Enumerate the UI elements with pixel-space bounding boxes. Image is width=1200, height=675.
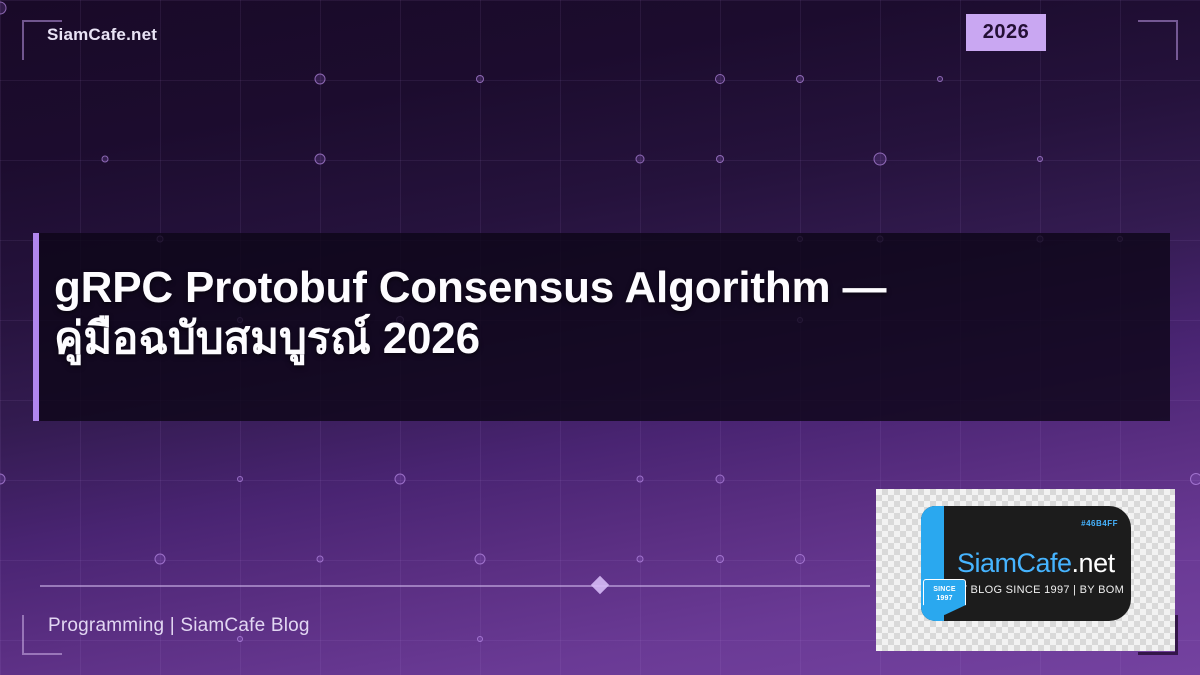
logo-tagline: IT BLOG SINCE 1997 | BY BOM — [957, 584, 1124, 596]
decorative-dot — [796, 75, 804, 83]
decorative-dot — [937, 76, 943, 82]
title-line-1: gRPC Protobuf Consensus — [54, 263, 614, 312]
logo-wordmark-primary: SiamCafe — [957, 548, 1072, 578]
decorative-dot — [475, 554, 486, 565]
decorative-dot — [155, 554, 166, 565]
year-badge-label: 2026 — [983, 21, 1030, 44]
decorative-dot — [0, 2, 7, 15]
decorative-dot — [317, 556, 324, 563]
decorative-dot — [102, 156, 109, 163]
logo-inner-card: #46B4FF SiamCafe.net IT BLOG SINCE 1997 … — [921, 506, 1131, 621]
page-title: gRPC Protobuf Consensus Algorithm — คู่ม… — [54, 262, 1164, 364]
logo-wordmark-suffix: .net — [1072, 548, 1115, 578]
since-ribbon-line-1: SINCE — [933, 585, 955, 594]
decorative-dot — [1037, 156, 1043, 162]
decorative-dot — [395, 474, 406, 485]
brand-name: SiamCafe.net — [47, 25, 157, 45]
decorative-dot — [315, 74, 326, 85]
decorative-dot — [477, 636, 483, 642]
decorative-dot — [795, 554, 805, 564]
corner-bracket-top-right-icon — [1138, 20, 1178, 60]
decorative-dot — [637, 556, 644, 563]
footer-divider — [40, 585, 870, 587]
poster-canvas: SiamCafe.net 2026 gRPC Protobuf Consensu… — [0, 0, 1200, 675]
footer-category-label: Programming | SiamCafe Blog — [48, 615, 310, 637]
decorative-dot — [637, 476, 644, 483]
logo-wordmark: SiamCafe.net — [957, 548, 1115, 579]
title-line-3: คู่มือฉบับสมบูรณ์ 2026 — [54, 313, 1164, 364]
title-accent-bar — [33, 233, 39, 421]
since-ribbon-line-2: 1997 — [936, 594, 952, 603]
decorative-dot — [237, 476, 243, 482]
decorative-dot — [0, 474, 6, 485]
title-line-2: Algorithm — — [624, 263, 886, 312]
decorative-dot — [716, 155, 724, 163]
decorative-dot — [716, 475, 725, 484]
decorative-dot — [716, 555, 724, 563]
logo-card: #46B4FF SiamCafe.net IT BLOG SINCE 1997 … — [876, 489, 1175, 651]
decorative-dot — [1190, 473, 1200, 485]
year-badge: 2026 — [966, 14, 1046, 51]
logo-hex-code: #46B4FF — [1081, 519, 1118, 528]
divider-diamond-icon — [591, 576, 609, 594]
decorative-dot — [315, 154, 326, 165]
decorative-dot — [874, 153, 887, 166]
decorative-dot — [476, 75, 484, 83]
decorative-dot — [715, 74, 725, 84]
decorative-dot — [636, 155, 645, 164]
